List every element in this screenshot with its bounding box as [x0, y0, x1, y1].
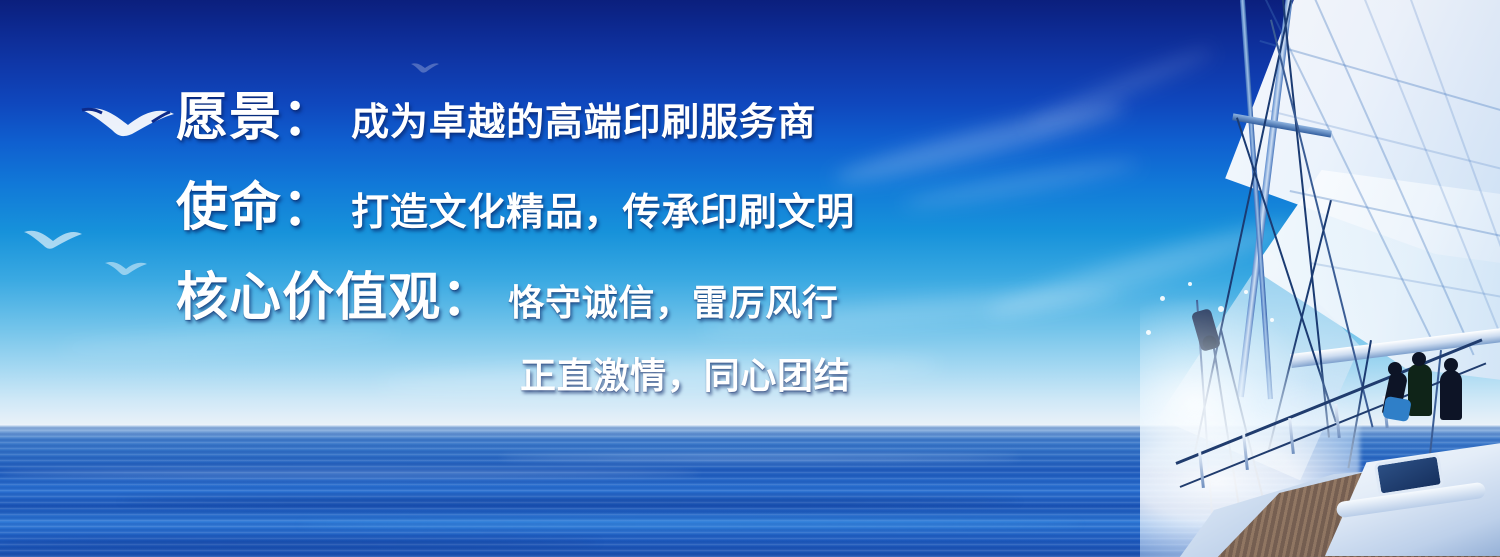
spray-droplet — [1244, 290, 1248, 294]
core-values-value: 恪守诚信，雷厉风行 — [508, 285, 838, 321]
mission-value: 打造文化精品，传承印刷文明 — [351, 194, 855, 232]
crew-silhouette — [1440, 370, 1462, 420]
crew-silhouette — [1382, 396, 1411, 422]
core-values-value-2: 正直激情，同心团结 — [520, 358, 850, 394]
line-vision: 愿景： 成为卓越的高端印刷服务商 — [176, 92, 816, 144]
mission-label: 使命： — [176, 182, 335, 234]
spray-droplet — [1188, 282, 1192, 286]
vision-label: 愿景： — [176, 92, 335, 144]
text-block: 愿景： 成为卓越的高端印刷服务商 使命： 打造文化精品，传承印刷文明 核心价值观… — [0, 0, 1000, 440]
crew-silhouette — [1412, 352, 1426, 366]
crew-silhouette — [1444, 358, 1458, 372]
spray-droplet — [1160, 296, 1165, 301]
crew-silhouette — [1408, 364, 1432, 416]
spray-droplet — [1218, 306, 1224, 312]
vision-value: 成为卓越的高端印刷服务商 — [351, 104, 816, 142]
line-mission: 使命： 打造文化精品，传承印刷文明 — [176, 182, 855, 234]
core-values-label: 核心价值观： — [176, 272, 494, 324]
crew-silhouette — [1388, 362, 1402, 376]
sailboat — [1140, 0, 1500, 557]
line-core-values: 核心价值观： 恪守诚信，雷厉风行 — [176, 272, 839, 324]
spray-droplet — [1146, 330, 1151, 335]
line-core-values-second: 正直激情，同心团结 — [520, 358, 850, 394]
spray-droplet — [1270, 318, 1274, 322]
vision-mission-values-banner: 愿景： 成为卓越的高端印刷服务商 使命： 打造文化精品，传承印刷文明 核心价值观… — [0, 0, 1500, 557]
